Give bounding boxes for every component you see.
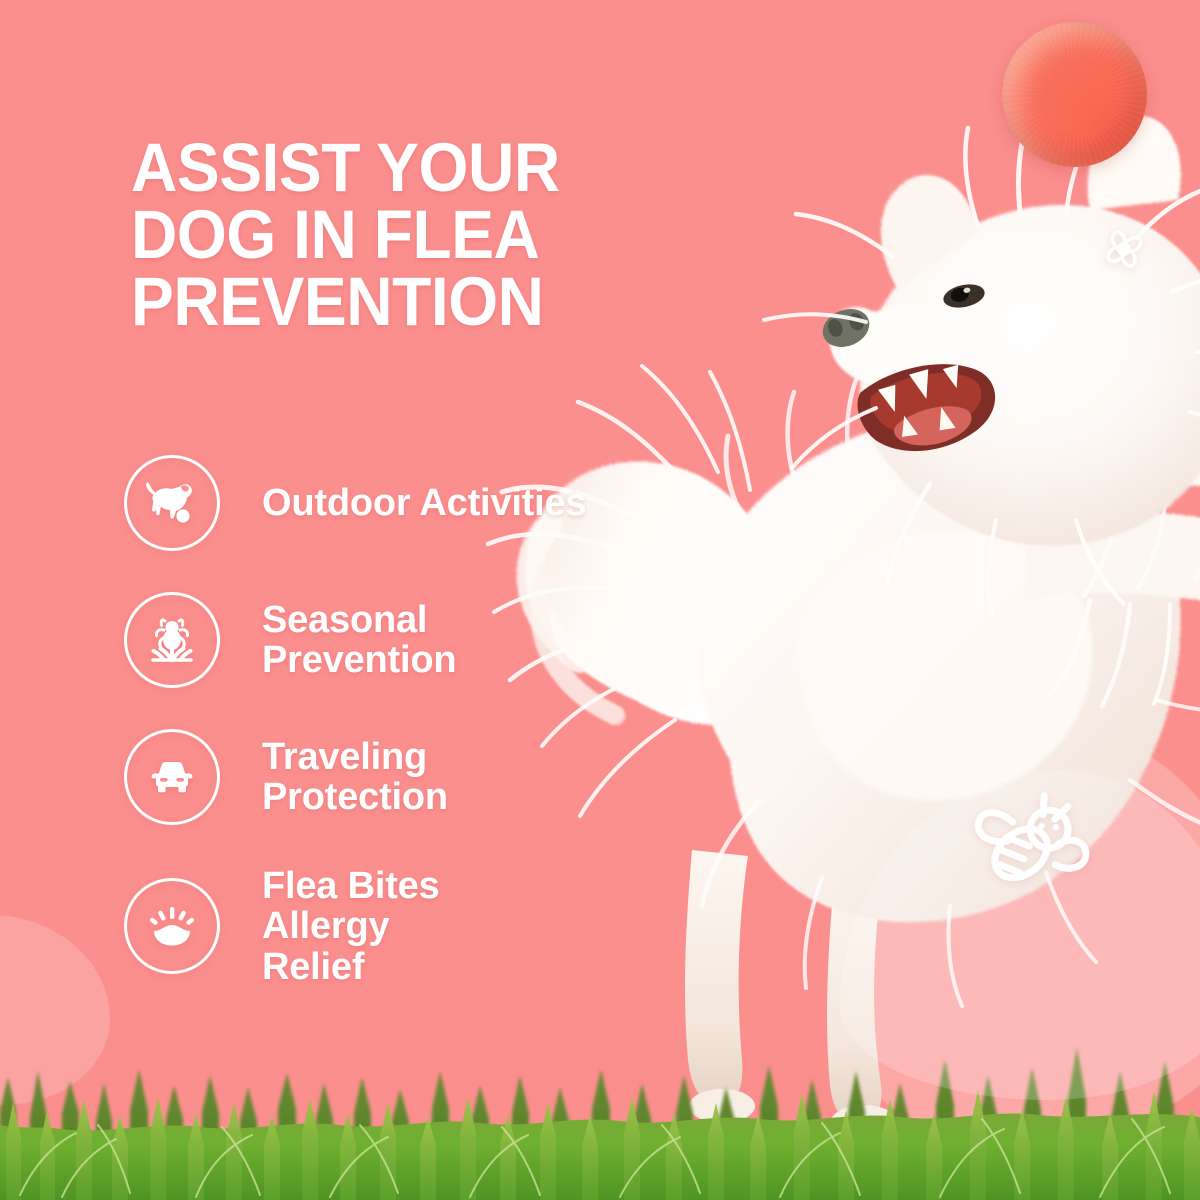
itchy-skin-bump-icon (124, 878, 220, 974)
feature-list: Outdoor Activities (124, 455, 594, 987)
headline-line-1: ASSIST YOUR (131, 135, 689, 202)
headline-line-2: DOG IN FLEA (131, 202, 689, 269)
feature-item-seasonal-prevention: Seasonal Prevention (124, 592, 594, 688)
feature-item-traveling-protection: Traveling Protection (124, 729, 594, 825)
feature-item-flea-bites-allergy-relief: Flea Bites Allergy Relief (124, 866, 594, 987)
bee-icon (965, 782, 1095, 906)
page-title: ASSIST YOUR DOG IN FLEA PREVENTION (131, 135, 689, 336)
ball-fuzz (1002, 22, 1147, 167)
fuzzy-ball (1002, 22, 1147, 167)
promotional-poster: ASSIST YOUR DOG IN FLEA PREVENTION (0, 0, 1200, 1200)
feature-label: Traveling Protection (262, 737, 448, 818)
grass-strip (0, 1025, 1200, 1200)
jumping-dog-with-ball-icon (124, 455, 220, 551)
feature-label: Flea Bites Allergy Relief (262, 866, 440, 987)
feature-item-outdoor-activities: Outdoor Activities (124, 455, 594, 551)
headline-line-3: PREVENTION (131, 269, 689, 336)
tick-on-grass-icon (124, 592, 220, 688)
feature-label: Outdoor Activities (262, 483, 586, 523)
feature-label: Seasonal Prevention (262, 600, 456, 681)
car-front-icon (124, 729, 220, 825)
